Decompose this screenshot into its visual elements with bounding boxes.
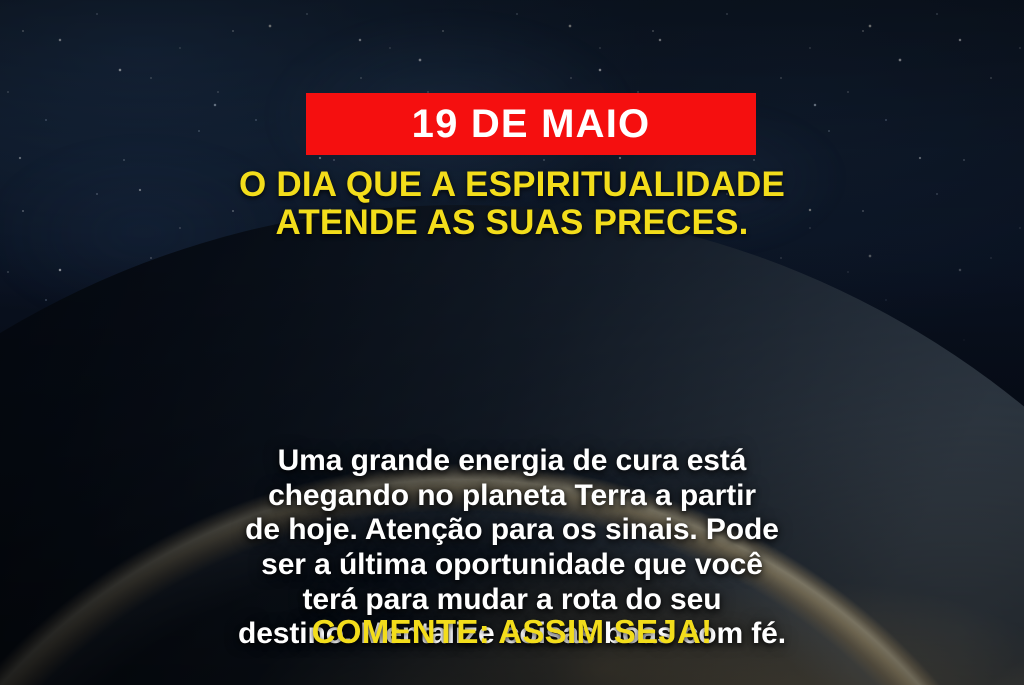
body-line-1: Uma grande energia de cura está	[52, 444, 972, 479]
body-line-3: de hoje. Atenção para os sinais. Pode	[52, 513, 972, 548]
headline-line-1: O DIA QUE A ESPIRITUALIDADE	[0, 166, 1024, 204]
body-line-4: ser a última oportunidade que você	[52, 548, 972, 583]
date-badge: 19 DE MAIO	[306, 93, 756, 155]
headline: O DIA QUE A ESPIRITUALIDADE ATENDE AS SU…	[0, 166, 1024, 242]
body-line-5: terá para mudar a rota do seu	[52, 583, 972, 618]
poster-content: 19 DE MAIO O DIA QUE A ESPIRITUALIDADE A…	[0, 0, 1024, 685]
poster-canvas: 19 DE MAIO O DIA QUE A ESPIRITUALIDADE A…	[0, 0, 1024, 685]
headline-line-2: ATENDE AS SUAS PRECES.	[0, 204, 1024, 242]
date-badge-label: 19 DE MAIO	[412, 104, 651, 144]
call-to-action: COMENTE: ASSIM SEJA!	[0, 613, 1024, 651]
body-line-2: chegando no planeta Terra a partir	[52, 479, 972, 514]
